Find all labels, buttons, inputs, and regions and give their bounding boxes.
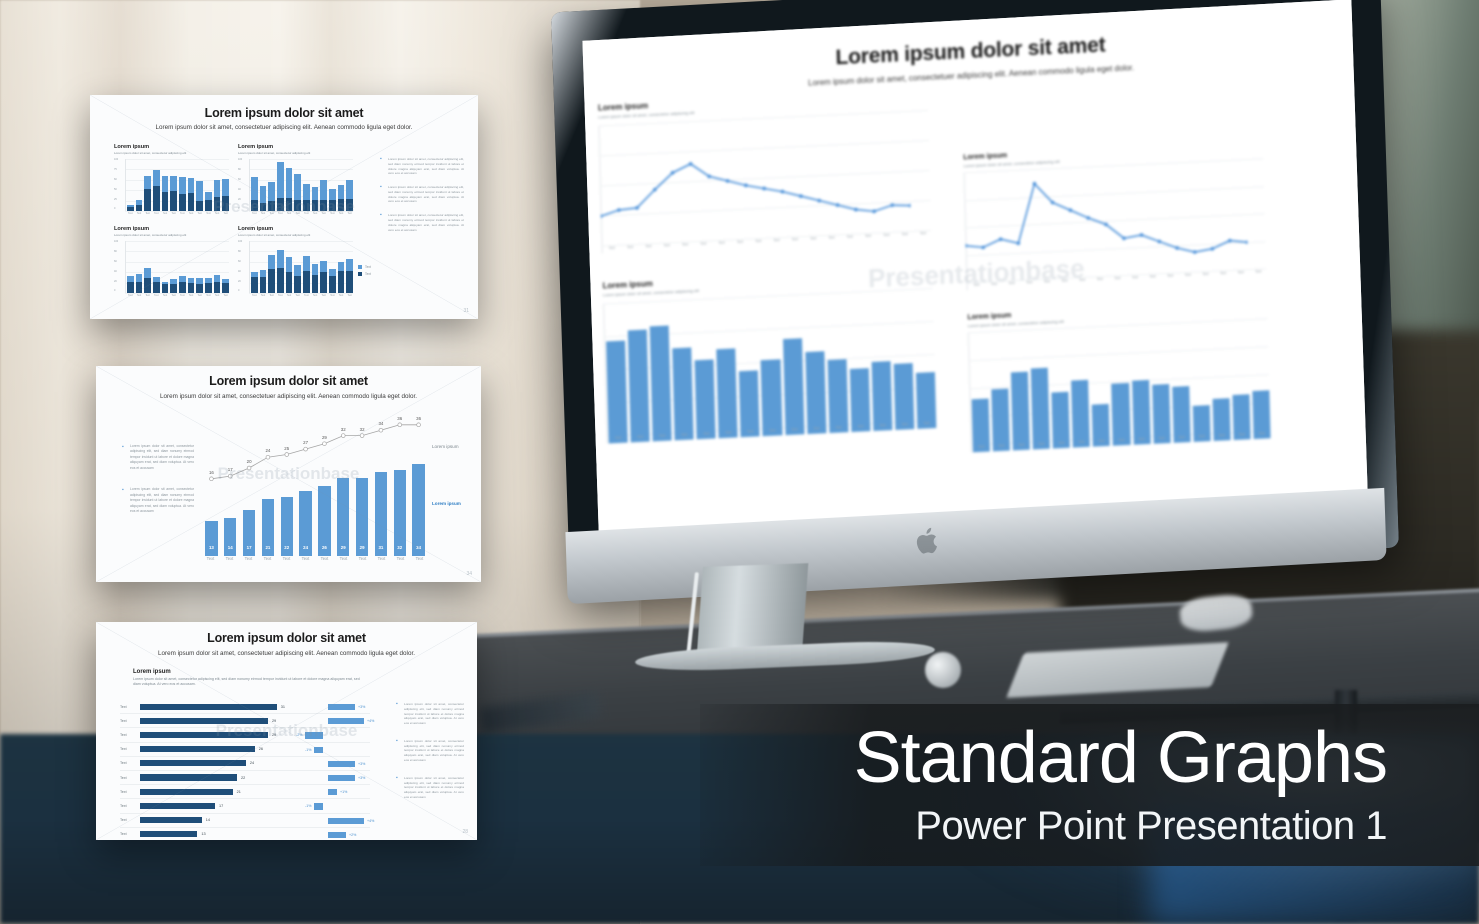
slide2-bullets: Lorem ipsum dolor sit amet, consectetur …	[122, 444, 194, 523]
y-tick: 0	[114, 290, 118, 293]
slide2-title: Lorem ipsum dolor sit amet	[96, 374, 481, 388]
hbar-row-label: Text	[120, 818, 140, 822]
stacked-bar	[214, 275, 221, 293]
y-tick: 0	[114, 208, 118, 211]
x-tick: Text	[896, 232, 912, 237]
x-tick: Text	[787, 237, 803, 242]
stacked-bar	[205, 278, 212, 293]
hbar-row-label: Text	[120, 761, 140, 765]
slide2-subtitle: Lorem ipsum dolor sit amet, consectetuer…	[96, 393, 481, 400]
delta-label: -2%	[296, 733, 302, 737]
screen-bar	[672, 347, 693, 440]
slide3-bullet-1: Lorem ipsum dolor sit amet, consectetur …	[396, 702, 464, 726]
delta-row: -1%	[282, 799, 392, 813]
stacked-bar	[179, 276, 186, 293]
delta-row: +3%	[282, 700, 392, 714]
line-value-label: 24	[262, 448, 274, 453]
stacked-bar	[153, 277, 160, 293]
screen-bar	[650, 325, 672, 441]
y-tick: 100	[238, 159, 242, 162]
slide3-section: Lorem ipsum Lorem ipsum dolor sit amet, …	[133, 669, 363, 688]
x-tick: Text	[1013, 443, 1030, 448]
x-tick: Text	[196, 212, 203, 215]
imac-computer: Lorem ipsum dolor sit amet Lorem ipsum d…	[560, 0, 1440, 690]
y-tick: 40	[114, 271, 118, 274]
delta-row: +1%	[282, 785, 392, 799]
stacked-bar	[214, 180, 221, 211]
x-tick: Text	[1053, 441, 1070, 446]
x-tick: Text	[240, 556, 257, 561]
x-tick: Text	[338, 294, 345, 297]
screen-bar	[827, 360, 848, 433]
hbar-fill	[140, 718, 268, 724]
hbar-row-label: Text	[120, 804, 140, 808]
hbar-row-label: Text	[120, 790, 140, 794]
hbar-row-label: Text	[120, 776, 140, 780]
x-tick: Text	[768, 238, 784, 243]
x-tick: Text	[277, 294, 284, 297]
hbar-fill	[140, 817, 202, 823]
x-tick: Text	[188, 212, 195, 215]
y-tick: 100	[114, 241, 118, 244]
screen-line-series	[598, 111, 911, 246]
line-value-label: 29	[318, 435, 330, 440]
slide3-page-number: 28	[462, 829, 468, 835]
hbar-fill	[140, 704, 277, 710]
x-tick: Text	[153, 294, 160, 297]
slide-bar-line-combo[interactable]: Lorem ipsum dolor sit amet Lorem ipsum d…	[96, 366, 481, 582]
screen-line-chart-2: Lorem ipsum Lorem ipsum dolor sit amet, …	[963, 140, 1267, 314]
x-tick: Text	[750, 239, 766, 244]
slide1-bullets: Lorem ipsum dolor sit amet, consectetur …	[380, 157, 464, 241]
x-tick: Text	[316, 556, 333, 561]
hbar-row-label: Text	[120, 719, 140, 723]
x-tick: Text	[1173, 435, 1190, 440]
x-tick: Text	[1039, 279, 1055, 284]
x-tick: Text	[969, 283, 985, 288]
hbar-fill	[140, 760, 246, 766]
slide-stacked-bars[interactable]: Lorem ipsum dolor sit amet Lorem ipsum d…	[90, 95, 478, 319]
x-tick: Text	[842, 234, 858, 239]
x-tick: Text	[373, 556, 390, 561]
hbar-fill	[140, 774, 237, 780]
stacked-bar	[179, 177, 186, 211]
delta-row: -2%	[282, 728, 392, 742]
delta-label: +3%	[358, 776, 365, 780]
x-tick: Text	[1093, 439, 1110, 444]
stacked-bar	[286, 257, 293, 293]
imac-stand-neck	[697, 563, 809, 657]
slide1-bullet-1: Lorem ipsum dolor sit amet, consectetur …	[380, 157, 464, 176]
slide1-c1-subtitle: Lorem ipsum dolor sit amet, consectetur …	[114, 151, 229, 155]
y-tick: 100	[114, 159, 118, 162]
slide2-x-axis-labels: TextTextTextTextTextTextTextTextTextText…	[202, 556, 428, 561]
hero-subtitle: Power Point Presentation 1	[915, 806, 1387, 846]
line-value-label: 20	[243, 459, 255, 464]
slide1-c3-subtitle: Lorem ipsum dolor sit amet, consectetur …	[114, 233, 229, 237]
slide3-bullet-3: Lorem ipsum dolor sit amet, consectetur …	[396, 776, 464, 800]
x-tick: Text	[677, 242, 693, 247]
x-tick: Text	[144, 294, 151, 297]
x-tick: Text	[823, 235, 839, 240]
x-tick: Text	[1213, 433, 1230, 438]
x-tick: Text	[805, 236, 821, 241]
stacked-bar	[222, 179, 229, 211]
y-tick: 50	[114, 189, 118, 192]
stacked-bar	[188, 178, 195, 211]
x-tick: Text	[202, 556, 219, 561]
x-tick: Text	[320, 294, 327, 297]
line-value-label: 16	[205, 470, 217, 475]
delta-bar	[328, 704, 355, 710]
x-tick: Text	[214, 212, 221, 215]
x-tick: Text	[973, 445, 990, 450]
x-tick: Text	[604, 246, 620, 251]
legend-label-1: Text	[365, 265, 371, 269]
delta-bar	[314, 747, 323, 753]
screen-bar	[717, 348, 738, 438]
slide3-bullets: Lorem ipsum dolor sit amet, consectetur …	[396, 702, 464, 809]
x-tick: Text	[1021, 280, 1037, 285]
slide3-delta-rows: +3% +4% -2% -1% +3%	[282, 700, 392, 840]
x-tick: Text	[1074, 278, 1090, 283]
screen-bar	[695, 359, 716, 439]
x-tick: Text	[1253, 431, 1270, 436]
slide2-page-number: 34	[466, 571, 472, 577]
x-tick: Text	[1127, 275, 1143, 280]
slide1-c3-title: Lorem ipsum	[114, 226, 229, 232]
hbar-value: 21	[237, 790, 241, 794]
x-tick: Text	[162, 294, 169, 297]
x-tick: Text	[732, 240, 748, 245]
x-tick: Text	[1198, 272, 1214, 277]
delta-bar	[328, 789, 337, 795]
stacked-bar	[277, 162, 284, 211]
hbar-row-label: Text	[120, 832, 140, 836]
delta-label: +3%	[358, 705, 365, 709]
stacked-bar	[196, 278, 203, 293]
line-value-label: 25	[281, 446, 293, 451]
slide3-title: Lorem ipsum dolor sit amet	[96, 631, 477, 645]
stacked-bar	[268, 255, 275, 293]
stacked-bar	[338, 185, 345, 211]
combo-line-series	[202, 428, 428, 556]
y-tick: 25	[114, 199, 118, 202]
line-value-label: 34	[375, 421, 387, 426]
legend-item-1: Text	[358, 265, 371, 269]
screen-bar	[805, 351, 826, 434]
y-tick: 60	[238, 179, 242, 182]
x-tick: Text	[986, 282, 1002, 287]
stacked-bar	[144, 268, 151, 293]
x-tick: Text	[622, 245, 638, 250]
screen-bar	[606, 340, 628, 443]
y-tick: 60	[114, 179, 118, 182]
stacked-bar	[268, 182, 275, 211]
screen-bar	[628, 329, 650, 442]
x-tick: Text	[1073, 440, 1090, 445]
slide2-line-series-label: Lorem ipsum	[432, 444, 459, 449]
x-tick: Text	[260, 294, 267, 297]
stacked-bar	[205, 192, 212, 211]
screen-bar	[1031, 367, 1050, 449]
delta-bar	[314, 803, 323, 809]
screen-bar	[871, 361, 892, 431]
screen-bar	[893, 363, 914, 430]
x-tick: Text	[713, 241, 729, 246]
x-tick: Text	[1233, 270, 1249, 275]
screen-slide: Lorem ipsum dolor sit amet Lorem ipsum d…	[582, 0, 1367, 531]
x-tick: Text	[915, 231, 931, 236]
delta-label: +4%	[367, 719, 374, 723]
x-tick: Text	[136, 212, 143, 215]
slide2-bullet-2: Lorem ipsum dolor sit amet, consectetur …	[122, 487, 194, 514]
x-tick: Text	[1180, 273, 1196, 278]
x-tick: Text	[1250, 269, 1266, 274]
stacked-bar	[338, 262, 345, 293]
slide1-c4-title: Lorem ipsum	[238, 226, 353, 232]
y-tick: 80	[238, 169, 242, 172]
y-tick: 40	[238, 189, 242, 192]
x-tick: Text	[286, 294, 293, 297]
x-tick: Text	[659, 243, 675, 248]
delta-bar	[328, 775, 355, 781]
x-tick: Text	[392, 556, 409, 561]
hbar-row-label: Text	[120, 733, 140, 737]
slide1-bullet-2: Lorem ipsum dolor sit amet, consectetur …	[380, 185, 464, 204]
x-tick: Text	[303, 212, 310, 215]
slide1-chart-top-left: Lorem ipsum Lorem ipsum dolor sit amet, …	[114, 144, 229, 211]
x-tick: Text	[259, 556, 276, 561]
hbar-fill	[140, 789, 233, 795]
y-tick: 80	[114, 251, 118, 254]
stacked-bar	[260, 270, 267, 293]
slide2-bar-series-label: Lorem ipsum	[432, 501, 461, 506]
stacked-bar	[303, 184, 310, 211]
imac-display[interactable]: Lorem ipsum dolor sit amet Lorem ipsum d…	[582, 0, 1367, 531]
x-tick: Text	[260, 212, 267, 215]
screen-line-series	[964, 159, 1249, 282]
hbar-value: 17	[219, 804, 223, 808]
delta-row: +3%	[282, 757, 392, 771]
slide2-combo-chart: 13 14 17 21 22 24 26 29 29 31 32 34 1617…	[202, 428, 428, 556]
stacked-bar	[320, 180, 327, 211]
line-value-label: 17	[224, 467, 236, 472]
y-tick: 20	[238, 281, 242, 284]
hbar-value: 13	[201, 832, 205, 836]
slide1-subtitle: Lorem ipsum dolor sit amet, consectetuer…	[90, 124, 478, 131]
delta-label: +3%	[358, 762, 365, 766]
x-tick: Text	[320, 212, 327, 215]
screen-bar	[1112, 383, 1131, 445]
x-tick: Text	[329, 294, 336, 297]
x-tick: Text	[1004, 281, 1020, 286]
x-tick: Text	[1215, 271, 1231, 276]
x-tick: Text	[294, 212, 301, 215]
stacked-bar	[162, 176, 169, 211]
stacked-bar	[346, 180, 353, 211]
stacked-bar	[346, 259, 353, 293]
y-tick: 100	[238, 241, 242, 244]
slide1-page-number: 31	[463, 308, 469, 314]
delta-label: +1%	[340, 790, 347, 794]
y-tick: 60	[238, 261, 242, 264]
stacked-bar	[329, 189, 336, 211]
delta-row: +4%	[282, 714, 392, 728]
screen-bar	[849, 368, 870, 432]
hbar-fill	[140, 803, 215, 809]
x-tick: Text	[196, 294, 203, 297]
x-tick: Text	[214, 294, 221, 297]
stacked-bar	[153, 170, 160, 211]
hbar-value: 29	[272, 733, 276, 737]
delta-bar	[328, 761, 355, 767]
x-tick: Text	[179, 212, 186, 215]
x-tick: Text	[1133, 437, 1150, 442]
x-tick: Text	[860, 234, 876, 239]
slide1-title: Lorem ipsum dolor sit amet	[90, 106, 478, 120]
delta-bar	[328, 818, 364, 824]
slide1-c1-title: Lorem ipsum	[114, 144, 229, 150]
delta-bar	[305, 732, 323, 738]
slide3-section-title: Lorem ipsum	[133, 669, 363, 675]
y-tick: 0	[238, 290, 242, 293]
legend-item-2: Text	[358, 272, 371, 276]
x-tick: Text	[695, 241, 711, 246]
line-value-label: 32	[356, 427, 368, 432]
stacked-bar	[320, 261, 327, 293]
slide1-chart-bottom-right: Lorem ipsum Lorem ipsum dolor sit amet, …	[238, 226, 353, 293]
stacked-bar	[251, 272, 258, 293]
hbar-value: 14	[206, 818, 210, 822]
delta-row: -1%	[282, 743, 392, 757]
x-tick: Text	[411, 556, 428, 561]
screen-bar	[761, 359, 782, 436]
x-tick: Text	[1162, 273, 1178, 278]
x-tick: Text	[878, 233, 894, 238]
x-tick: Text	[179, 294, 186, 297]
line-value-label: 27	[300, 440, 312, 445]
stacked-bar	[329, 269, 336, 293]
stacked-bar	[144, 176, 151, 211]
x-tick: Text	[136, 294, 143, 297]
hbar-row-label: Text	[120, 747, 140, 751]
screen-bar	[1132, 380, 1151, 445]
screen-bar-chart-1: Lorem ipsum Lorem ipsum dolor sit amet, …	[603, 266, 937, 462]
line-value-label: 36	[394, 416, 406, 421]
x-tick: Text	[251, 212, 258, 215]
screen-bar	[991, 389, 1010, 451]
slide3-bullet-2: Lorem ipsum dolor sit amet, consectetur …	[396, 739, 464, 763]
stacked-bar	[127, 205, 134, 211]
x-tick: Text	[335, 556, 352, 561]
delta-label: -1%	[305, 748, 311, 752]
stacked-bar	[286, 168, 293, 211]
delta-label: -1%	[305, 804, 311, 808]
legend-label-2: Text	[365, 272, 371, 276]
x-tick: Text	[268, 294, 275, 297]
stacked-bar	[294, 265, 301, 293]
delta-label: +2%	[349, 833, 356, 837]
x-tick: Text	[312, 294, 319, 297]
x-tick: Text	[268, 212, 275, 215]
slide1-chart-bottom-left: Lorem ipsum Lorem ipsum dolor sit amet, …	[114, 226, 229, 293]
stacked-bar	[188, 278, 195, 293]
x-tick: Text	[346, 212, 353, 215]
slide1-c2-subtitle: Lorem ipsum dolor sit amet, consectetur …	[238, 151, 353, 155]
stacked-bar	[170, 279, 177, 293]
screen-bar	[1152, 384, 1171, 444]
x-tick: Text	[205, 294, 212, 297]
x-tick: Text	[153, 212, 160, 215]
x-tick: Text	[1113, 438, 1130, 443]
x-tick: Text	[993, 444, 1010, 449]
x-tick: Text	[1092, 277, 1108, 282]
x-tick: Text	[251, 294, 258, 297]
x-tick: Text	[278, 556, 295, 561]
x-tick: Text	[1193, 434, 1210, 439]
slide1-legend: Text Text	[358, 265, 371, 276]
hero-title: Standard Graphs	[854, 722, 1387, 794]
x-tick: Text	[205, 212, 212, 215]
stacked-bar	[251, 177, 258, 211]
x-tick: Text	[1233, 432, 1250, 437]
y-tick: 40	[238, 271, 242, 274]
x-tick: Text	[222, 294, 229, 297]
delta-row: +4%	[282, 814, 392, 828]
delta-row: +3%	[282, 771, 392, 785]
x-tick: Text	[329, 212, 336, 215]
line-value-label: 32	[337, 427, 349, 432]
x-tick: Text	[1109, 276, 1125, 281]
x-tick: Text	[188, 294, 195, 297]
x-tick: Text	[1145, 274, 1161, 279]
slide-horizontal-bars[interactable]: Lorem ipsum dolor sit amet Lorem ipsum d…	[96, 622, 477, 840]
hbar-value: 26	[259, 747, 263, 751]
slide1-bullet-3: Lorem ipsum dolor sit amet, consectetur …	[380, 213, 464, 232]
x-tick: Text	[1057, 278, 1073, 283]
screen-bar	[1071, 380, 1090, 448]
stacked-bar	[170, 176, 177, 211]
slide1-c2-title: Lorem ipsum	[238, 144, 353, 150]
x-tick: Text	[127, 212, 134, 215]
stacked-bar	[260, 186, 267, 211]
x-tick: Text	[294, 294, 301, 297]
screen-bar	[783, 339, 805, 436]
x-tick: Text	[277, 212, 284, 215]
y-tick: 60	[114, 261, 118, 264]
x-tick: Text	[312, 212, 319, 215]
hbar-fill	[140, 831, 197, 837]
x-tick: Text	[303, 294, 310, 297]
x-tick: Text	[222, 212, 229, 215]
screen-bar	[1011, 371, 1030, 450]
hbar-value: 24	[250, 761, 254, 765]
stacked-bar	[136, 274, 143, 293]
slide3-section-body: Lorem ipsum dolor sit amet, consectetur …	[133, 677, 363, 688]
slide3-subtitle: Lorem ipsum dolor sit amet, consectetuer…	[96, 650, 477, 657]
x-tick: Text	[1033, 442, 1050, 447]
x-tick: Text	[346, 294, 353, 297]
delta-row: +2%	[282, 828, 392, 840]
x-tick: Text	[286, 212, 293, 215]
stacked-bar	[162, 282, 169, 293]
y-tick: 0	[238, 208, 242, 211]
x-tick: Text	[170, 294, 177, 297]
slide2-bullet-1: Lorem ipsum dolor sit amet, consectetur …	[122, 444, 194, 471]
hbar-fill	[140, 732, 268, 738]
y-tick: 20	[238, 199, 242, 202]
